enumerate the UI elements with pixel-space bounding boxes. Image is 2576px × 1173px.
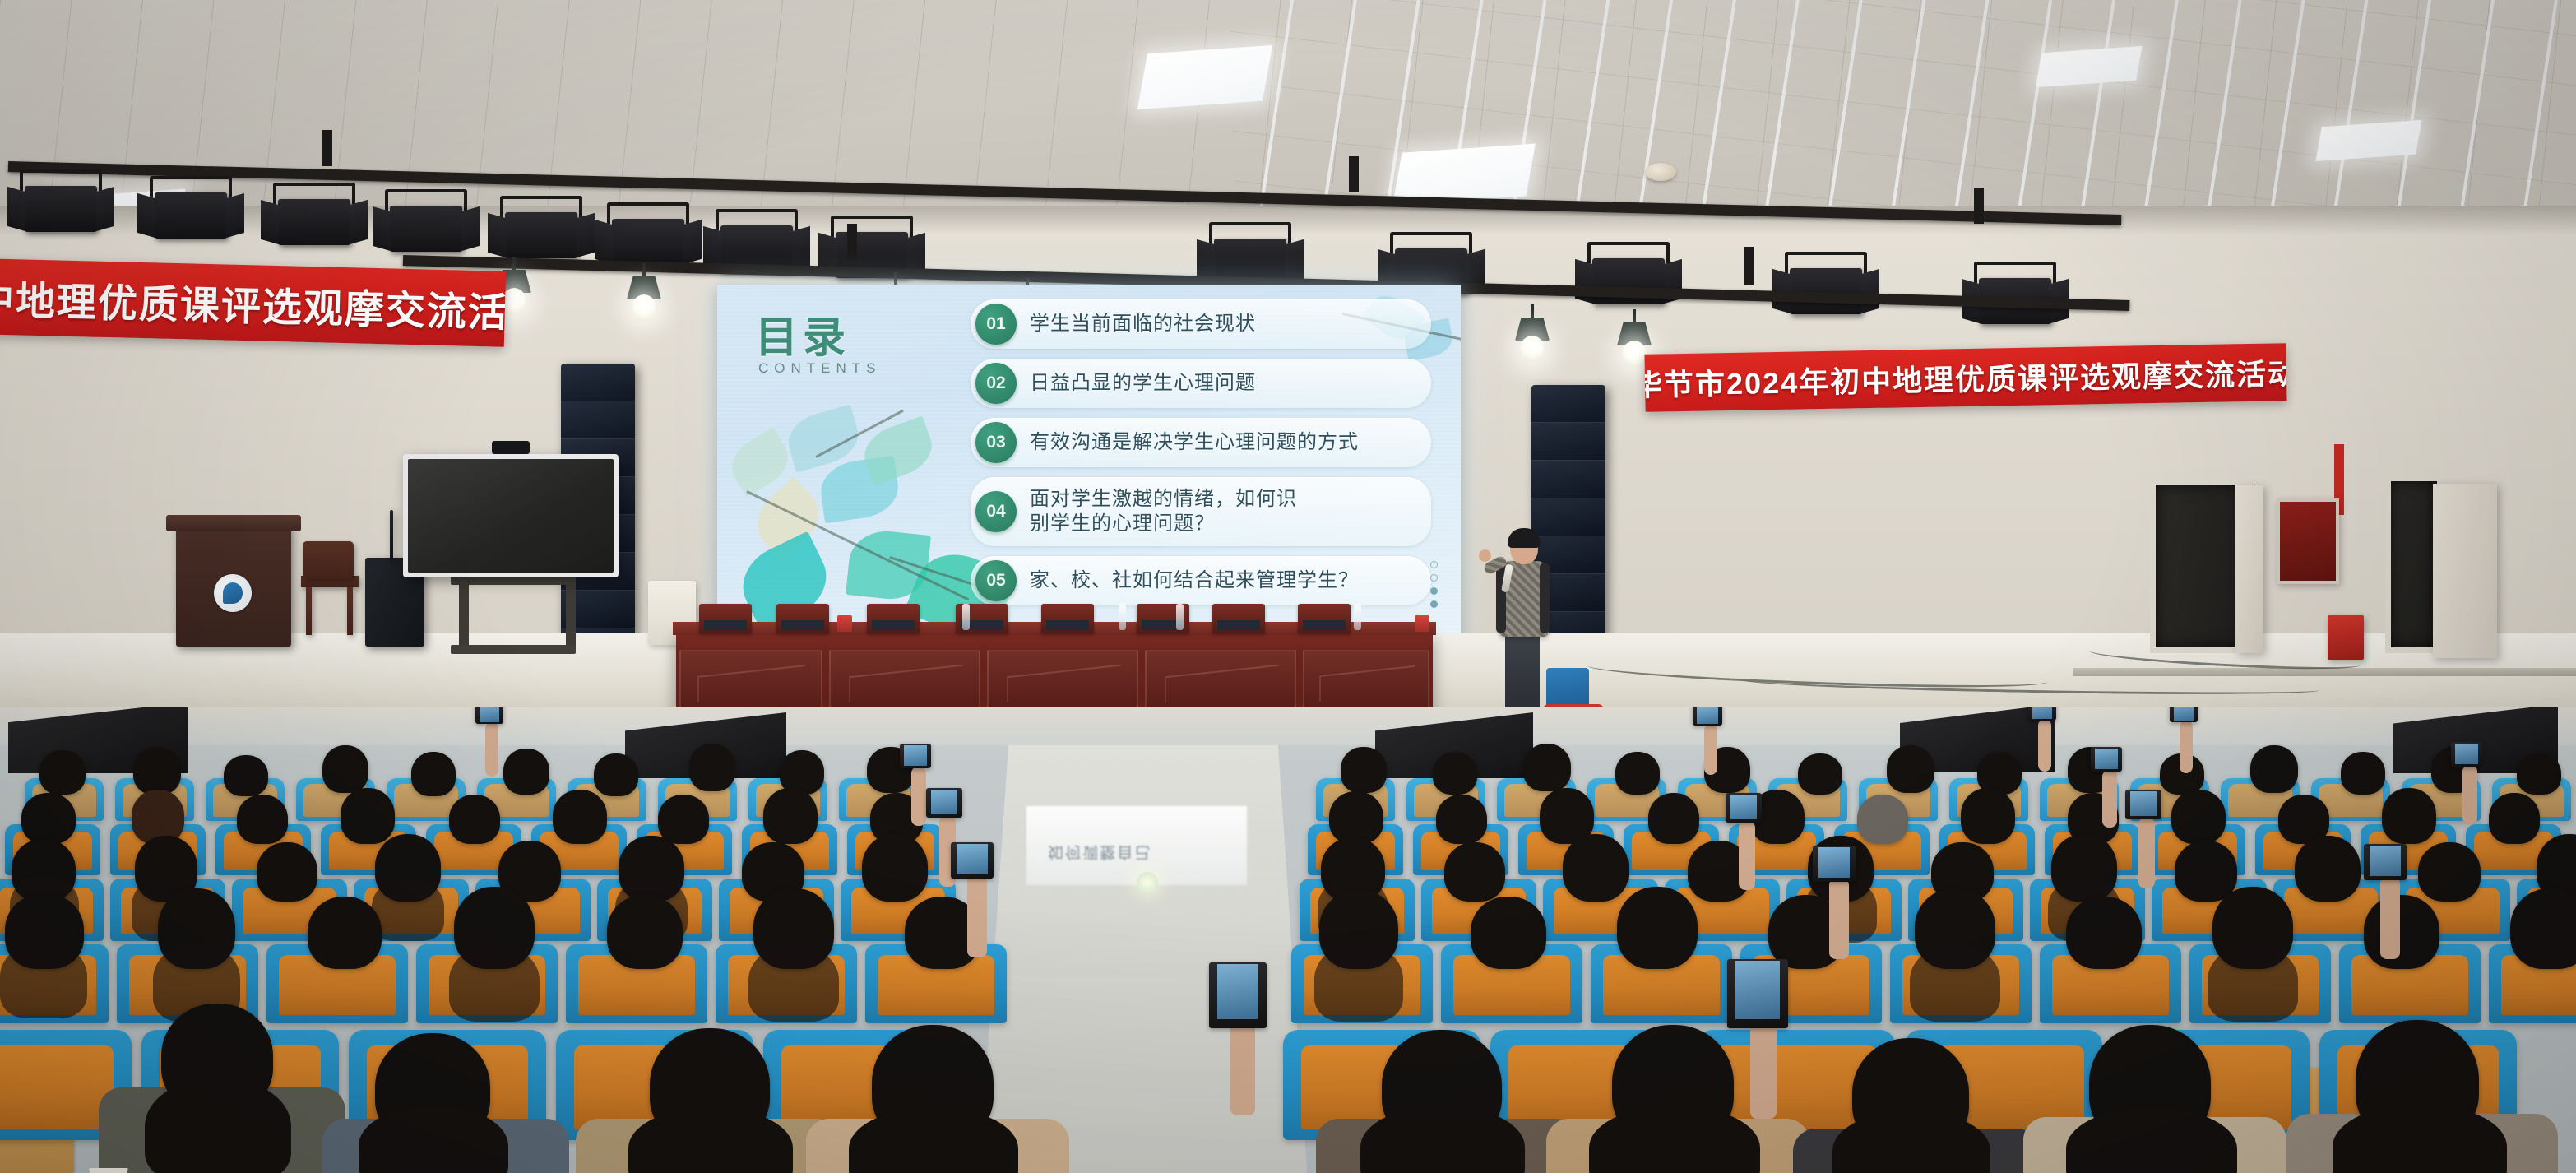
par-can-light [390, 206, 462, 252]
audience-head [2364, 895, 2439, 969]
tv-stand-base [451, 645, 576, 654]
door-leaf-right[interactable] [2433, 484, 2497, 658]
audience-hair [1910, 946, 2000, 1022]
stage-edge [2073, 668, 2576, 676]
phone[interactable] [1693, 707, 1722, 726]
head-table-chair [1041, 604, 1094, 633]
audience-head [21, 793, 76, 844]
raised-arm [1230, 1020, 1255, 1115]
tv-stand-leg [566, 576, 576, 651]
flat-panel-display[interactable] [403, 454, 619, 577]
school-emblem-icon [214, 574, 252, 612]
audience-hair [1314, 944, 1403, 1022]
audience-head [2489, 793, 2540, 844]
audience-head [862, 834, 928, 902]
truss-drop-rod [847, 224, 857, 262]
center-aisle [978, 732, 1309, 1173]
audience-hair [145, 1079, 291, 1173]
audience-head [1329, 791, 1383, 844]
raised-arm [1829, 879, 1849, 959]
toc-item: 03 有效沟通是解决学生心理问题的方式 [971, 418, 1431, 467]
phone[interactable] [1209, 962, 1267, 1028]
audience-head [133, 747, 181, 795]
door-leaf-left[interactable] [2235, 485, 2263, 653]
par-can-light [25, 186, 97, 232]
projection-screen: 目录 CONTENTS 01 学生当前面临的社会现状 02 日益凸显的学生心理问… [717, 285, 1461, 638]
phone[interactable] [2125, 790, 2161, 819]
truss-drop-rod [1349, 156, 1359, 192]
smoke-detector [1645, 163, 1676, 181]
audience-head [2250, 745, 2298, 793]
stage-chair-back [303, 541, 354, 579]
audience-head [1341, 747, 1387, 793]
toc-item: 01 学生当前面临的社会现状 [971, 299, 1431, 349]
presenter-hair [1508, 528, 1541, 548]
audience-head [2517, 753, 2561, 795]
floor-reflection-text: 如何调整自己 [1048, 842, 1151, 865]
slide-contents-list: 01 学生当前面临的社会现状 02 日益凸显的学生心理问题 03 有效沟通是解决… [971, 299, 1431, 615]
phone[interactable] [900, 744, 931, 768]
raised-arm [2038, 719, 2051, 772]
audience-head [1523, 744, 1571, 791]
toc-item-label: 有效沟通是解决学生心理问题的方式 [1030, 430, 1359, 455]
audience-hair [372, 879, 444, 941]
head-table-panel [679, 650, 822, 716]
raised-arm [2380, 877, 2400, 959]
presenter-legs [1505, 633, 1540, 714]
audience-head [689, 744, 735, 791]
audience-hair [748, 946, 839, 1022]
page-dot [1430, 600, 1438, 608]
par-can-light [278, 199, 350, 245]
audience-hair [628, 1109, 793, 1173]
head-table-panel [1303, 650, 1429, 716]
audience-head [2175, 841, 2237, 902]
raised-arm [1739, 821, 1755, 890]
audience-head [2341, 752, 2385, 795]
toc-item-label: 家、校、社如何结合起来管理学生？ [1030, 568, 1359, 593]
water-bottle [962, 604, 970, 630]
audience-seating-area: 如何调整自己 [0, 707, 2576, 1173]
banner-right-text: 毕节市2024年初中地理优质课评选观摩交流活动 [1644, 350, 2286, 405]
floor-light-reflection [1137, 872, 1158, 893]
head-table-chair [1298, 604, 1351, 633]
audience-head [1617, 887, 1698, 969]
audience-head [2066, 897, 2142, 969]
audience-head [322, 745, 368, 793]
raised-arm [2180, 721, 2193, 773]
slide-title: 目录 [755, 303, 850, 364]
podium-top [166, 515, 301, 531]
audience-head [2382, 788, 2436, 844]
table-cup [837, 615, 852, 632]
podium [176, 525, 291, 647]
display-screen [408, 459, 614, 573]
water-bottle [1119, 604, 1126, 630]
banner-right: 毕节市2024年初中地理优质课评选观摩交流活动 [1644, 343, 2286, 412]
truss-drop-rod [322, 130, 332, 166]
raised-arm [2138, 818, 2155, 888]
audience-head [1798, 753, 1842, 795]
slide-subtitle: CONTENTS [758, 360, 882, 377]
audience-head [1471, 897, 1546, 969]
audience-head [449, 795, 500, 844]
audience-hair [0, 943, 87, 1018]
head-table-panel [829, 650, 980, 716]
audience-head [1444, 842, 1505, 902]
par-can-light [155, 192, 227, 239]
page-dot [1430, 561, 1438, 568]
audience-head [2171, 790, 2226, 844]
par-can-light [505, 212, 577, 258]
phone[interactable] [2364, 844, 2407, 880]
phone[interactable] [475, 707, 503, 724]
floor-slide-reflection: 如何调整自己 [1026, 806, 1247, 885]
phone[interactable] [2091, 747, 2122, 772]
head-table-chair [1212, 604, 1265, 633]
phone[interactable] [1727, 959, 1788, 1028]
phone[interactable] [926, 788, 962, 818]
head-table-chair [776, 604, 829, 633]
audience-head [2418, 842, 2481, 902]
presenter-jacket-lapel [1540, 563, 1550, 633]
audience-head [594, 753, 638, 796]
page-dot [1430, 587, 1438, 595]
ceiling-light-panel [1392, 143, 1536, 205]
audience-head [763, 788, 818, 844]
audience-hair [849, 1109, 1018, 1173]
page-dot [1430, 574, 1438, 582]
audience-head [553, 790, 607, 844]
audience-head [658, 795, 709, 844]
banner-left: 初中地理优质课评选观摩交流活动 [0, 258, 506, 347]
audience-hair [1832, 1112, 1990, 1173]
toc-item-number: 03 [975, 422, 1017, 463]
audience-head [224, 755, 268, 796]
audience-hair [449, 946, 540, 1022]
audience-hair [1360, 1107, 1525, 1173]
audience-head [503, 749, 549, 795]
audience-hair [2333, 1106, 2507, 1173]
pa-antenna [390, 510, 393, 561]
slide-page-dots [1430, 555, 1438, 614]
audience-head [1563, 834, 1629, 902]
toc-item-label: 面对学生激越的情绪，如何识 别学生的心理问题？ [1030, 487, 1297, 536]
paper-cup [86, 1168, 132, 1173]
auditorium-photo: 初中地理优质课评选观摩交流活动 毕节市2024年初中地理优质课评选观摩交流活动 … [0, 0, 2576, 1173]
audience-head [1436, 795, 1487, 844]
raised-arm [911, 767, 926, 826]
toc-item-number: 05 [975, 560, 1017, 601]
toc-item: 02 日益凸显的学生心理问题 [971, 359, 1431, 408]
toc-item-number: 02 [975, 363, 1017, 404]
audience-head [2510, 888, 2576, 969]
truss-drop-rod [1744, 247, 1754, 285]
table-cup [1415, 615, 1429, 632]
phone[interactable] [1726, 793, 1762, 823]
audience-head [1615, 752, 1660, 795]
audience-head [1887, 745, 1934, 793]
audience-head [1648, 793, 1699, 844]
ceiling-light-panel [1137, 45, 1272, 109]
audience-head [1433, 752, 1477, 795]
water-bottle [1354, 604, 1361, 630]
audience-head [308, 897, 382, 969]
fire-hose-icon [2280, 502, 2336, 581]
phone[interactable] [951, 842, 994, 879]
phone[interactable] [1813, 846, 1856, 882]
audience-head [257, 842, 317, 902]
audience-head [341, 788, 395, 844]
par-can-light [612, 219, 684, 265]
audience-head [237, 795, 288, 844]
audience-hair [1589, 1107, 1760, 1173]
toc-item-label: 日益凸显的学生心理问题 [1030, 371, 1256, 396]
raised-arm [1704, 724, 1717, 775]
stage-chair-leg [347, 587, 353, 635]
display-camera-icon [492, 441, 530, 454]
audience-hair [2208, 946, 2298, 1022]
audience-head [411, 752, 456, 796]
toc-item-number: 04 [975, 491, 1017, 532]
audience-hair [2066, 1109, 2237, 1173]
phone[interactable] [2170, 707, 2198, 722]
audience-head [607, 895, 683, 969]
truss-drop-rod [1974, 188, 1984, 224]
stage-chair-leg [306, 587, 312, 635]
head-table-chair [867, 604, 920, 633]
fire-extinguisher-box[interactable] [2328, 615, 2364, 660]
audience-head [2295, 836, 2361, 902]
raised-arm [967, 875, 987, 957]
raised-arm [1750, 1020, 1777, 1119]
head-table-panel [1145, 650, 1296, 716]
raised-arm [2462, 765, 2477, 824]
toc-item: 05 家、校、社如何结合起来管理学生？ [971, 556, 1431, 605]
presenter-hand [1479, 549, 1491, 562]
toc-item-number: 01 [975, 304, 1017, 345]
audience-head [1961, 788, 2015, 844]
raised-arm [485, 722, 498, 777]
fire-hose-cabinet[interactable] [2277, 498, 2339, 584]
phone[interactable] [2451, 742, 2482, 767]
audience-head [39, 750, 86, 795]
phone[interactable] [2028, 707, 2056, 721]
audience-head [1857, 795, 1908, 844]
toc-item: 04 面对学生激越的情绪，如何识 别学生的心理问题？ [971, 477, 1431, 546]
raised-arm [2102, 770, 2117, 828]
audience-hair [359, 1107, 508, 1173]
water-bottle [1176, 604, 1184, 630]
toc-item-label: 学生当前面临的社会现状 [1030, 312, 1256, 336]
head-table-chair [699, 604, 752, 633]
banner-left-text: 初中地理优质课评选观摩交流活动 [0, 267, 506, 339]
head-table-panel [987, 650, 1138, 716]
tv-stand-leg [459, 576, 469, 651]
